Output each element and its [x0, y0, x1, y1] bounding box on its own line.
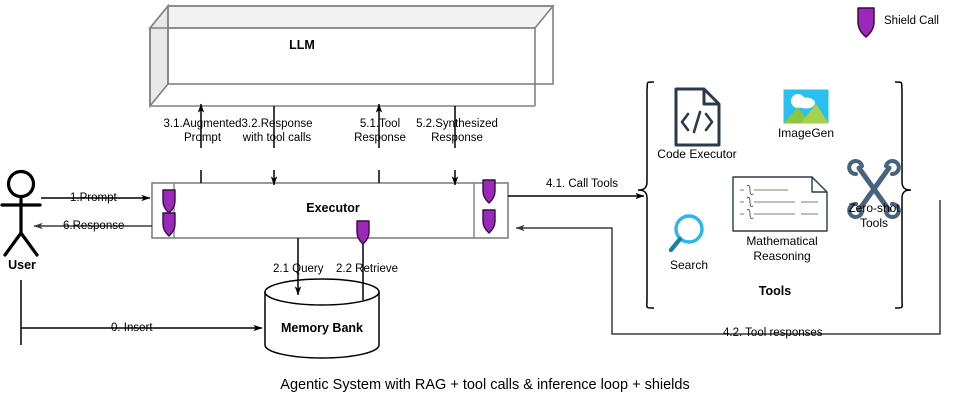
- tool-label-imagegen: ImageGen: [741, 126, 871, 141]
- edge-label-retrieve: 2.2 Retrieve: [336, 263, 398, 277]
- executor-label: Executor: [306, 201, 360, 215]
- edge-label-query: 2.1 Query: [273, 263, 324, 277]
- legend-label: Shield Call: [884, 15, 939, 27]
- edge-label-synthesized-response: 5.2.Synthesized Response: [398, 118, 516, 145]
- image-picture-icon: [783, 89, 829, 124]
- tool-label-mathematical-reasoning: Mathematical Reasoning: [712, 234, 852, 263]
- memory-bank-node: [265, 279, 379, 358]
- tools-left-brace: [638, 82, 654, 308]
- user-actor: [2, 172, 40, 256]
- edge-label-insert: 0. Insert: [111, 322, 153, 336]
- math-document-icon: [733, 177, 827, 231]
- user-label: User: [8, 258, 36, 272]
- memory-bank-label: Memory Bank: [281, 321, 363, 335]
- diagram-caption: Agentic System with RAG + tool calls & i…: [280, 377, 689, 393]
- tool-label-code-executor: Code Executor: [622, 147, 772, 162]
- tools-group-label: Tools: [759, 284, 791, 298]
- edge-label-call-tools: 4.1. Call Tools: [546, 178, 618, 192]
- edge-label-tool-responses: 4.2. Tool responses: [723, 327, 823, 341]
- code-document-icon: [676, 89, 719, 145]
- edge-label-prompt: 1.Prompt: [70, 192, 117, 206]
- edge-label-response: 6.Response: [63, 220, 124, 234]
- llm-node: [150, 6, 553, 106]
- shield-icon-legend: [858, 8, 874, 37]
- shield-icon-memory: [357, 221, 369, 244]
- llm-label: LLM: [289, 38, 315, 52]
- magnifier-icon: [671, 216, 702, 250]
- diagram-canvas: LLM Executor Memory Bank User Tools 3.1.…: [0, 0, 970, 411]
- tools-right-brace: [895, 82, 911, 308]
- tool-label-zero-shot-tools: Zero-shot Tools: [819, 201, 929, 230]
- edge-label-response-tool-calls: 3.2.Response with tool calls: [216, 118, 338, 145]
